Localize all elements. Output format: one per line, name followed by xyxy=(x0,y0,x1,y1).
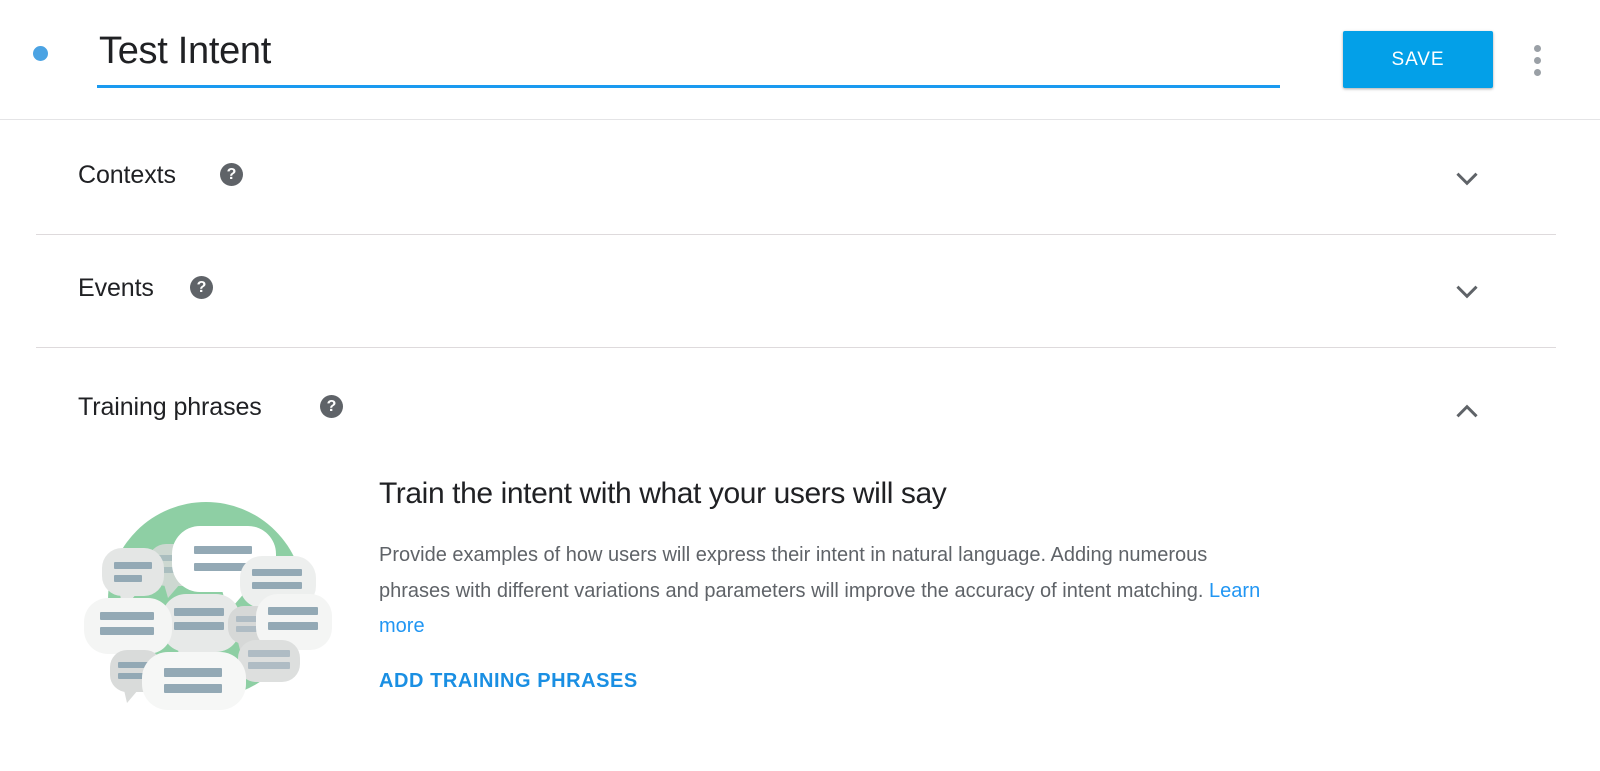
speech-bubbles-illustration xyxy=(76,472,334,710)
help-icon-training-phrases[interactable]: ? xyxy=(320,395,343,418)
more-options-icon[interactable] xyxy=(1522,38,1552,82)
chevron-down-icon-events[interactable] xyxy=(1450,275,1484,309)
section-title-events: Events xyxy=(78,274,154,303)
intent-enabled-indicator xyxy=(33,46,48,61)
section-events[interactable] xyxy=(0,257,1600,317)
intent-name-underline xyxy=(97,85,1280,88)
empty-state-body: Provide examples of how users will expre… xyxy=(379,514,1269,645)
save-button[interactable]: SAVE xyxy=(1343,31,1493,88)
section-title-contexts: Contexts xyxy=(78,161,176,190)
chevron-up-icon-training-phrases[interactable] xyxy=(1450,394,1484,428)
empty-state-text: Train the intent with what your users wi… xyxy=(379,455,1279,693)
intent-name-field-wrap xyxy=(97,26,1280,88)
intent-name-input[interactable] xyxy=(97,26,1280,84)
empty-state-heading: Train the intent with what your users wi… xyxy=(379,455,1279,514)
empty-state-body-text: Provide examples of how users will expre… xyxy=(379,544,1207,602)
help-icon-events[interactable]: ? xyxy=(190,276,213,299)
more-dot xyxy=(1534,57,1541,64)
section-divider xyxy=(36,347,1556,348)
intent-header: SAVE xyxy=(0,0,1600,120)
section-title-training-phrases: Training phrases xyxy=(78,393,262,422)
more-dot xyxy=(1534,69,1541,76)
add-training-phrases-button[interactable]: ADD TRAINING PHRASES xyxy=(379,670,638,693)
section-divider xyxy=(36,234,1556,235)
header-divider xyxy=(0,119,1600,120)
more-dot xyxy=(1534,45,1541,52)
chevron-down-icon-contexts[interactable] xyxy=(1450,162,1484,196)
help-icon-contexts[interactable]: ? xyxy=(220,163,243,186)
training-phrases-empty-state: Train the intent with what your users wi… xyxy=(0,455,1600,755)
